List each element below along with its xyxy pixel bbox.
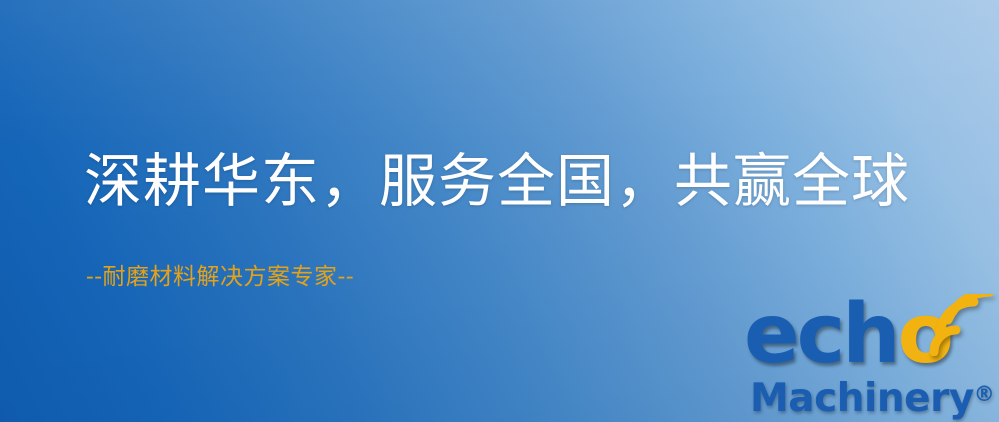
banner-headline: 深耕华东，服务全国，共赢全球 bbox=[84, 152, 910, 210]
logo-wordmark: echo bbox=[744, 296, 951, 374]
logo-subword-text: Machinery bbox=[750, 376, 974, 421]
registered-trademark-icon: ® bbox=[974, 382, 995, 406]
company-logo[interactable]: echo Machinery® bbox=[744, 296, 996, 418]
hero-banner: 深耕华东，服务全国，共赢全球 --耐磨材料解决方案专家-- echo Machi… bbox=[0, 0, 999, 422]
banner-subtitle: --耐磨材料解决方案专家-- bbox=[86, 266, 354, 289]
logo-word-blue: ech bbox=[744, 287, 898, 382]
logo-subword: Machinery® bbox=[750, 372, 995, 421]
signal-arcs-icon bbox=[926, 294, 994, 356]
